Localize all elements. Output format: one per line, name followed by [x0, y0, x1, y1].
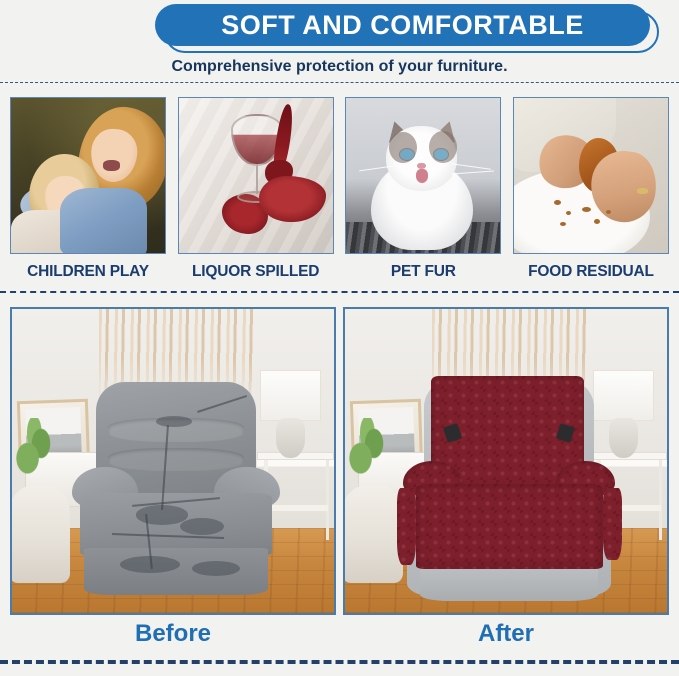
food-crumb: [582, 207, 591, 212]
feature-label: CHILDREN PLAY: [27, 263, 149, 281]
divider-top: [0, 82, 679, 83]
page-title: SOFT AND COMFORTABLE: [221, 10, 583, 41]
children-play-image: [10, 97, 166, 254]
after-caption: After: [343, 620, 669, 656]
dirt-stain: [156, 416, 192, 427]
page-subtitle: Comprehensive protection of your furnitu…: [0, 58, 679, 76]
slipcover-side-flap-right: [603, 488, 622, 560]
food-crumb: [606, 210, 611, 214]
finger-ring: [637, 188, 648, 194]
living-room-scene: [12, 309, 334, 613]
child-mouth-shape: [103, 160, 120, 171]
wine-glass-stem: [256, 163, 258, 194]
feature-row: CHILDREN PLAY LIQUOR SPILLED: [10, 97, 669, 287]
before-caption: Before: [10, 620, 336, 656]
cat-tongue: [416, 169, 428, 183]
living-room-scene: [345, 309, 667, 613]
cat-eye-right: [434, 149, 448, 160]
side-stool: [343, 485, 403, 582]
pet-fur-image: [345, 97, 501, 254]
covered-recliner: [403, 376, 616, 601]
dirt-stain: [192, 561, 240, 576]
feature-label: FOOD RESIDUAL: [528, 263, 654, 281]
dirty-recliner: [76, 382, 276, 595]
slipcover-side-flap-left: [397, 488, 416, 564]
side-stool: [10, 485, 70, 582]
lamp-base: [276, 418, 305, 458]
food-crumb: [594, 219, 600, 224]
feature-item-liquor-spilled: LIQUOR SPILLED: [178, 97, 334, 287]
potted-plant: [348, 418, 390, 485]
after-panel: [343, 307, 669, 615]
liquor-spilled-image: [178, 97, 334, 254]
feature-label: LIQUOR SPILLED: [192, 263, 319, 281]
food-residual-image: [513, 97, 669, 254]
caption-text: After: [478, 620, 534, 647]
feature-item-food-residual: FOOD RESIDUAL: [513, 97, 669, 287]
divider-bottom: [0, 660, 679, 664]
before-after-row: [10, 307, 669, 615]
cat-eye-left: [400, 149, 414, 160]
banner-fill-shape: SOFT AND COMFORTABLE: [155, 4, 650, 46]
feature-item-pet-fur: PET FUR: [345, 97, 501, 287]
table-leg-right: [659, 460, 663, 540]
divider-middle: [0, 291, 679, 293]
backrest-seam: [108, 448, 244, 471]
cat-whisker: [451, 163, 491, 170]
feature-item-children-play: CHILDREN PLAY: [10, 97, 166, 287]
before-after-captions: Before After: [10, 620, 669, 656]
potted-plant: [15, 418, 57, 485]
infographic-page: SOFT AND COMFORTABLE Comprehensive prote…: [0, 0, 679, 676]
recliner-footrest: [84, 548, 268, 595]
feature-label: PET FUR: [391, 263, 456, 281]
caption-text: Before: [135, 620, 211, 647]
before-panel: [10, 307, 336, 615]
child-shirt-shape: [60, 188, 146, 254]
header-banner: SOFT AND COMFORTABLE: [0, 2, 679, 54]
slipcover-seat: [416, 484, 603, 569]
table-leg-right: [326, 460, 330, 540]
